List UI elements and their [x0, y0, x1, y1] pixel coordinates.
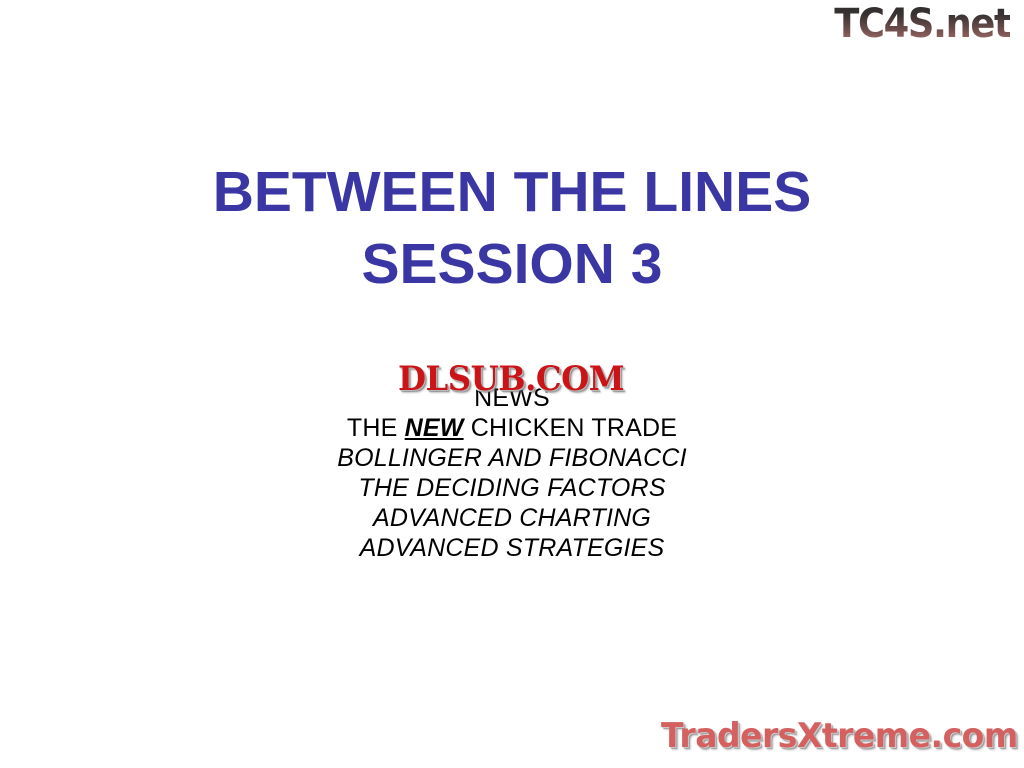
agenda-item-bollinger-fibonacci: BOLLINGER AND FIBONACCI: [0, 443, 1024, 473]
title-line-2: SESSION 3: [0, 228, 1024, 300]
agenda-item-chicken-trade-suffix: CHICKEN TRADE: [464, 414, 677, 442]
agenda-list: NEWS THE NEW CHICKEN TRADE BOLLINGER AND…: [0, 383, 1024, 563]
agenda-item-chicken-trade-emphasis: NEW: [405, 414, 464, 442]
agenda-item-advanced-charting: ADVANCED CHARTING: [0, 503, 1024, 533]
page-title: BETWEEN THE LINES SESSION 3: [0, 156, 1024, 300]
tc4s-logo: TC4S.net: [834, 2, 1010, 46]
agenda-item-chicken-trade-prefix: THE: [347, 414, 405, 442]
agenda-item-chicken-trade: THE NEW CHICKEN TRADE: [0, 413, 1024, 443]
agenda-item-news: NEWS: [0, 383, 1024, 413]
agenda-item-advanced-strategies: ADVANCED STRATEGIES: [0, 533, 1024, 563]
tradersxtreme-logo: TradersXtreme.com: [661, 716, 1018, 756]
agenda-item-deciding-factors: THE DECIDING FACTORS: [0, 473, 1024, 503]
title-line-1: BETWEEN THE LINES: [0, 156, 1024, 228]
presentation-slide: TC4S.net BETWEEN THE LINES SESSION 3 NEW…: [0, 0, 1024, 768]
